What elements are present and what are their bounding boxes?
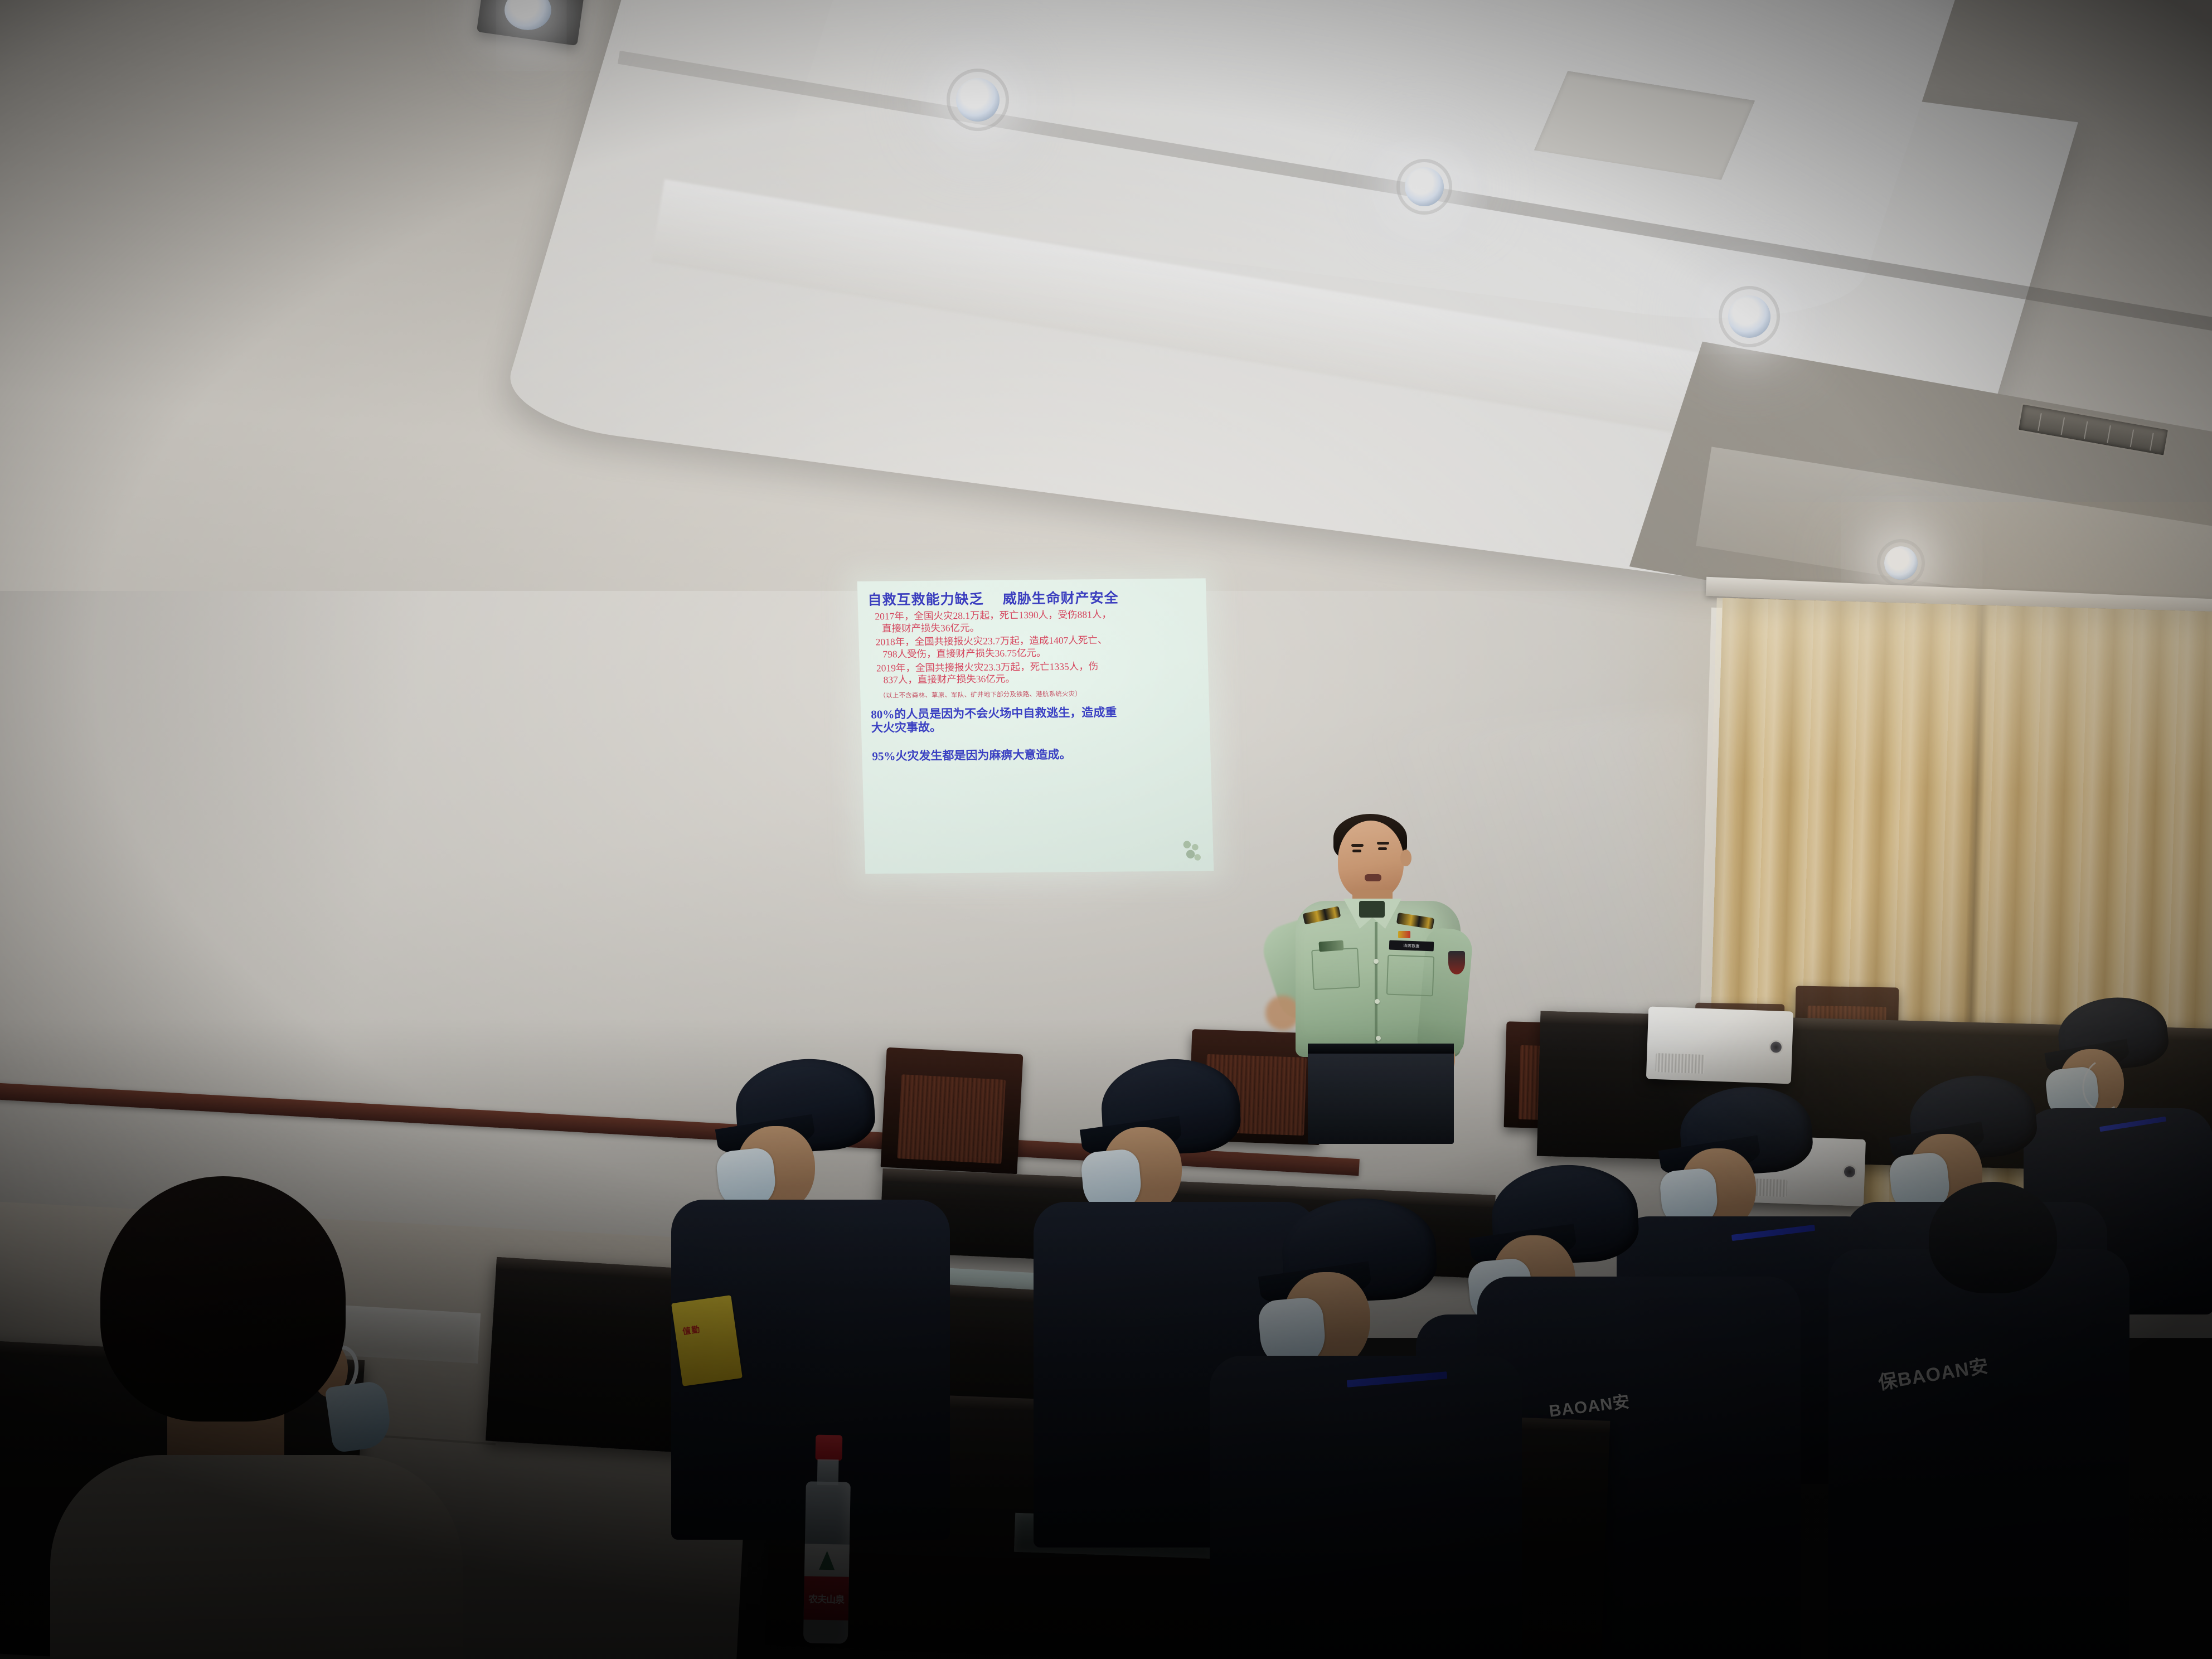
presenter-shoulder-patch bbox=[1448, 951, 1465, 974]
presenter-brow-left bbox=[1351, 844, 1364, 847]
armband-label: 值勤 bbox=[682, 1323, 701, 1337]
ceiling-downlight-1 bbox=[956, 78, 1000, 122]
presenter-trousers bbox=[1308, 1044, 1454, 1144]
projector-rear[interactable] bbox=[1646, 1007, 1793, 1084]
highlight-80-percent: 80% bbox=[871, 707, 895, 721]
front-left-civilian bbox=[39, 1176, 463, 1659]
stat-2017-line1: 2017年，全国火灾28.1万起，死亡1390人，受伤881人， bbox=[875, 609, 1112, 622]
guard-torso bbox=[1828, 1249, 2129, 1659]
guard-row2-right-b: 保BAOAN安 bbox=[1828, 1182, 2118, 1659]
guard-torso bbox=[1210, 1356, 1522, 1659]
highlight-95-text: 火灾发生都是因为麻痹大意造成。 bbox=[895, 748, 1071, 763]
ceiling-downlight-4 bbox=[1884, 546, 1918, 580]
bottle-brand-text: 农夫山泉 bbox=[808, 1591, 844, 1605]
slide-stat-2017: 2017年，全国火灾28.1万起，死亡1390人，受伤881人， 直接财产损失3… bbox=[868, 608, 1198, 635]
guard-head bbox=[1929, 1182, 2057, 1293]
projected-slide: 自救互救能力缺乏 威胁生命财产安全 2017年，全国火灾28.1万起，死亡139… bbox=[857, 578, 1214, 874]
stat-2019-line2: 837人，直接财产损失36亿元。 bbox=[870, 672, 1200, 687]
stat-2018-line2: 798人受伤，直接财产损失36.75亿元。 bbox=[869, 646, 1199, 661]
presenter-mouth bbox=[1365, 874, 1381, 881]
highlight-80-text: 的人员是因为不会火场中自救逃生，造成重 bbox=[894, 706, 1117, 721]
presenter-eye-left bbox=[1352, 850, 1361, 852]
water-bottle[interactable]: 农夫山泉 bbox=[792, 1434, 861, 1647]
highlight-80-text2: 大火灾事故。 bbox=[871, 721, 942, 735]
stat-2017-line2: 直接财产损失36亿元。 bbox=[869, 620, 1199, 635]
slide-title-left: 自救互救能力缺乏 bbox=[867, 588, 984, 609]
presenter-shirt-button bbox=[1375, 999, 1380, 1004]
projector-vents bbox=[1655, 1053, 1705, 1074]
bottle-cap bbox=[816, 1435, 843, 1461]
slide-corner-logo-icon bbox=[1178, 837, 1205, 864]
presenter-belt bbox=[1308, 1044, 1454, 1054]
slide-stat-2019: 2019年，全国共接报火灾23.3万起，死亡1335人，伤 837人，直接财产损… bbox=[870, 659, 1200, 687]
guard-duty-armband: 值勤 bbox=[671, 1295, 743, 1386]
ceiling-downlight-2 bbox=[1405, 167, 1444, 206]
presenter-chest-pocket-left bbox=[1311, 948, 1360, 990]
presenter-eye-right bbox=[1378, 847, 1387, 850]
slide-highlight-95: 95%火灾发生都是因为麻痹大意造成。 bbox=[872, 746, 1202, 763]
presenter-head bbox=[1338, 821, 1404, 900]
slide-stat-2018: 2018年，全国共接报火灾23.7万起，造成1407人死亡、 798人受伤，直接… bbox=[869, 634, 1199, 661]
presenter-shirt-button bbox=[1374, 959, 1379, 964]
guard-row1-right bbox=[1221, 1199, 1511, 1659]
mountain-icon bbox=[819, 1551, 835, 1570]
bottle-label-brand: 农夫山泉 bbox=[804, 1576, 849, 1620]
bottle-label-upper bbox=[804, 1544, 850, 1578]
civilian-face-mask bbox=[324, 1380, 393, 1453]
presenter-rank-pin bbox=[1398, 931, 1410, 938]
lecture-room-scene: 自救互救能力缺乏 威胁生命财产安全 2017年，全国火灾28.1万起，死亡139… bbox=[0, 0, 2212, 1659]
slide-title-right: 威胁生命财产安全 bbox=[1002, 587, 1119, 608]
stat-2018-line1: 2018年，全国共接报火灾23.7万起，造成1407人死亡、 bbox=[875, 634, 1107, 648]
civilian-hair bbox=[100, 1176, 346, 1422]
presenter-ear bbox=[1400, 850, 1411, 866]
slide-highlight-80: 80%的人员是因为不会火场中自救逃生，造成重 大火灾事故。 bbox=[871, 705, 1201, 735]
presenter-shirt-button bbox=[1376, 1036, 1381, 1041]
presenter-brow-right bbox=[1377, 842, 1389, 845]
presenter-inner-collar bbox=[1359, 901, 1385, 918]
presenter-chest-pocket-right bbox=[1386, 955, 1434, 997]
presenter-chest-emblem bbox=[1318, 940, 1343, 952]
ceiling-downlight-3 bbox=[1728, 295, 1770, 338]
presenter-shirt-placket bbox=[1375, 922, 1377, 1055]
projector-lens-icon bbox=[1768, 1040, 1783, 1055]
civilian-shirt bbox=[50, 1455, 463, 1659]
stat-2019-line1: 2019年，全国共接报火灾23.3万起，死亡1335人，伤 bbox=[876, 661, 1099, 673]
slide-title: 自救互救能力缺乏 威胁生命财产安全 bbox=[867, 586, 1197, 609]
presenter-name-badge: 消防救援 bbox=[1389, 940, 1434, 952]
highlight-95-percent: 95% bbox=[872, 749, 896, 763]
slide-footnote: （以上不含森林、草原、军队、矿井地下部分及铁路、港航系统火灾） bbox=[870, 688, 1200, 700]
presenter-left-hand bbox=[1265, 996, 1300, 1030]
